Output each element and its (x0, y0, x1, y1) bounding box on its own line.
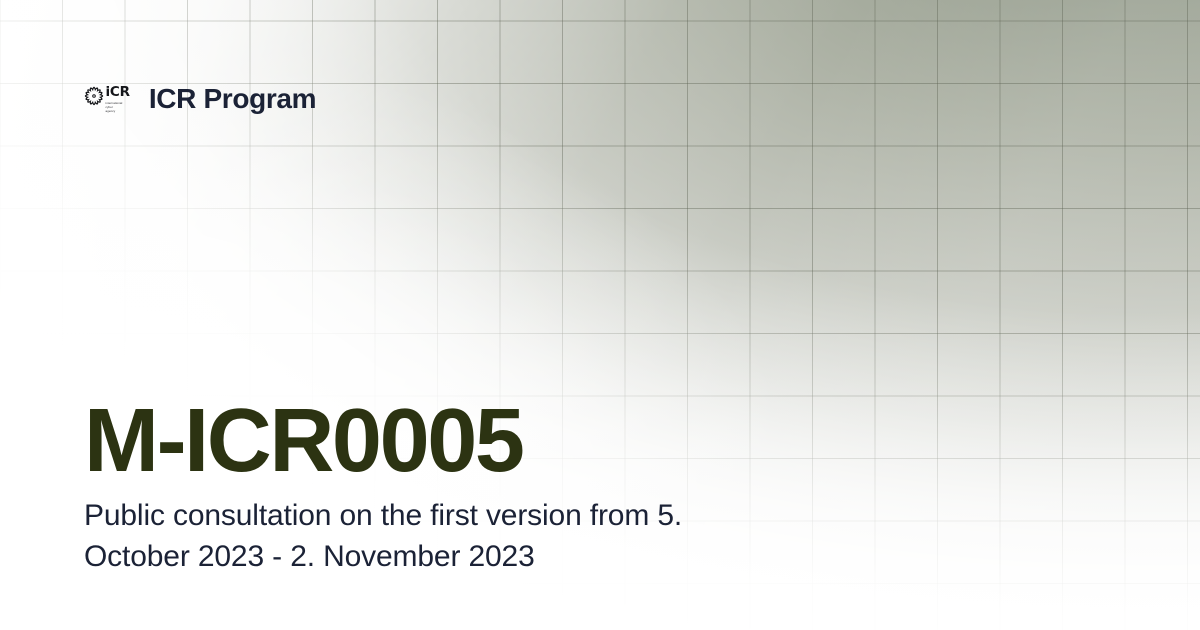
icr-tagline-line-3: agency (106, 109, 116, 113)
page-subtitle: Public consultation on the first version… (84, 496, 844, 578)
social-card-canvas: iCR international cyber agency ICR Progr… (0, 0, 1200, 630)
icr-logo: iCR international cyber agency (84, 85, 130, 114)
page-title: M-ICR0005 (84, 396, 523, 486)
icr-wordmark-tagline: international cyber agency (106, 101, 130, 113)
card-content: iCR international cyber agency ICR Progr… (0, 0, 1200, 630)
page-subtitle-line-1: Public consultation on the first version… (84, 496, 844, 537)
icr-wordmark: iCR international cyber agency (106, 85, 130, 114)
icr-wordmark-text: iCR (106, 86, 130, 100)
icr-starburst-icon (84, 86, 104, 106)
brand-title: ICR Program (149, 83, 316, 115)
brand-lockup: iCR international cyber agency ICR Progr… (84, 83, 316, 115)
page-subtitle-line-2: October 2023 - 2. November 2023 (84, 537, 844, 578)
